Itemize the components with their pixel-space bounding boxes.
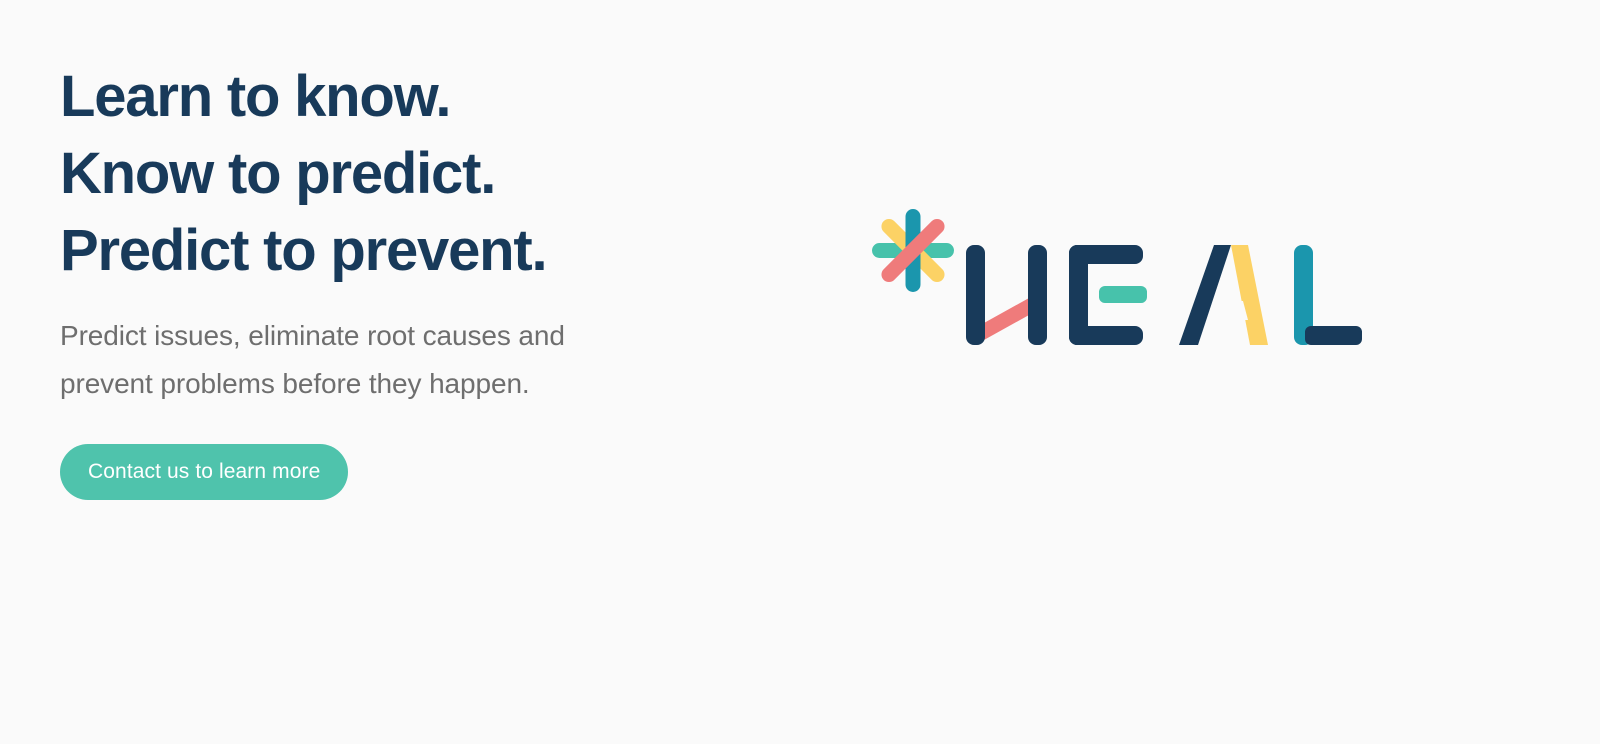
logo-a-inner-shape	[1209, 301, 1248, 320]
logo-e-green-middle-bar	[1099, 286, 1147, 303]
headline-line-3: Predict to prevent.	[60, 212, 720, 289]
page-title: Learn to know. Know to predict. Predict …	[60, 58, 720, 289]
hero-section: Learn to know. Know to predict. Predict …	[0, 0, 1600, 744]
logo-a-yellow-right-stroke	[1231, 245, 1268, 345]
logo-e-bottom-arm	[1069, 326, 1143, 345]
heal-logo	[862, 198, 1382, 373]
headline-line-1: Learn to know.	[60, 58, 720, 135]
contact-us-button[interactable]: Contact us to learn more	[60, 444, 348, 500]
logo-letter-l	[1294, 245, 1362, 345]
logo-letter-e	[1069, 245, 1147, 345]
headline-line-2: Know to predict.	[60, 135, 720, 212]
logo-l-navy-foot	[1305, 326, 1362, 345]
logo-e-top-arm	[1069, 245, 1143, 264]
logo-h-left-stem	[966, 245, 985, 345]
logo-a-left-stroke	[1179, 245, 1231, 345]
logo-letter-a	[1179, 245, 1268, 345]
asterisk-icon	[872, 209, 954, 292]
hero-copy-block: Learn to know. Know to predict. Predict …	[60, 58, 720, 500]
hero-subtitle: Predict issues, eliminate root causes an…	[60, 289, 660, 408]
logo-h-right-stem	[1028, 245, 1047, 345]
logo-letter-h	[966, 245, 1047, 345]
